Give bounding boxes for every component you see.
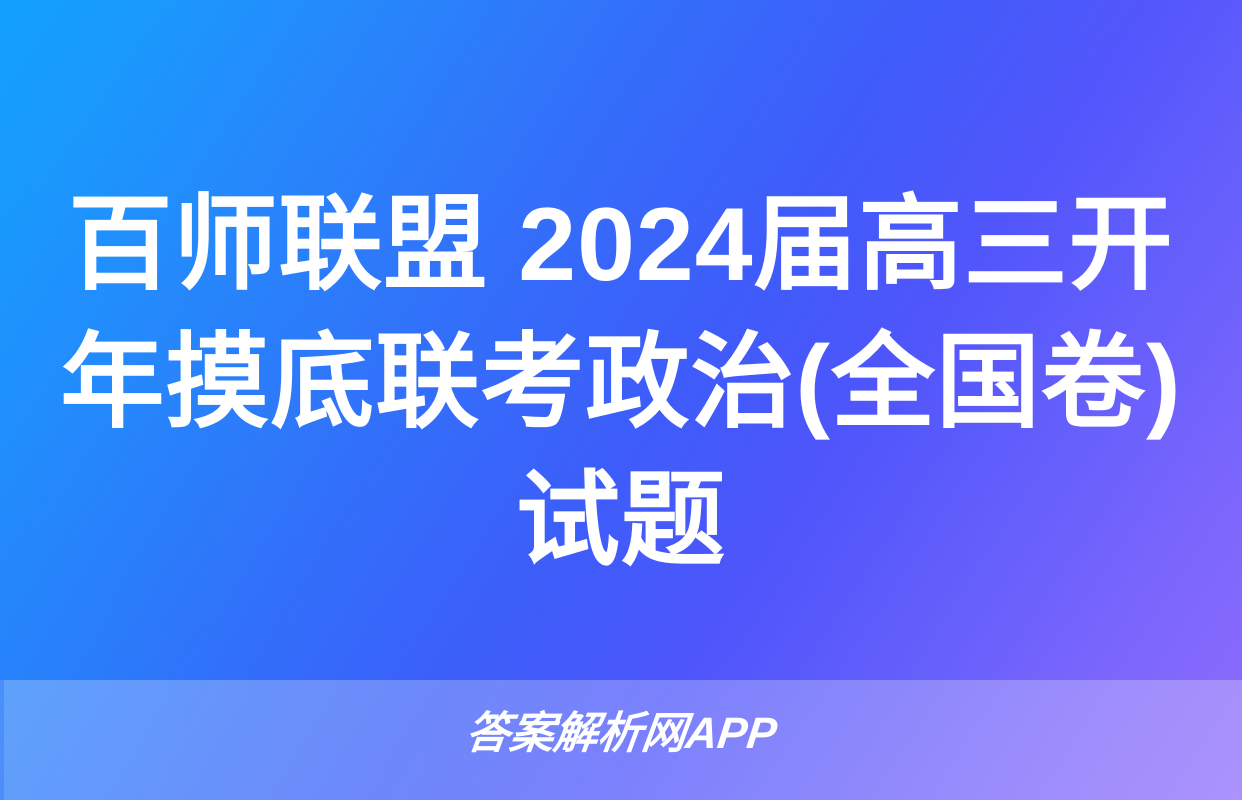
watermark-label: 答案解析网APP [462,705,780,763]
watermark: 答案解析网APP [0,705,1242,763]
poster-canvas: 百师联盟 2024届高三开 年摸底联考政治(全国卷) 试题 答案解析网APP [0,0,1242,800]
page-title: 百师联盟 2024届高三开 年摸底联考政治(全国卷) 试题 [0,176,1242,590]
title-line-2: 年摸底联考政治(全国卷) [60,314,1182,452]
title-line-3: 试题 [60,452,1182,590]
title-line-1: 百师联盟 2024届高三开 [60,176,1182,314]
